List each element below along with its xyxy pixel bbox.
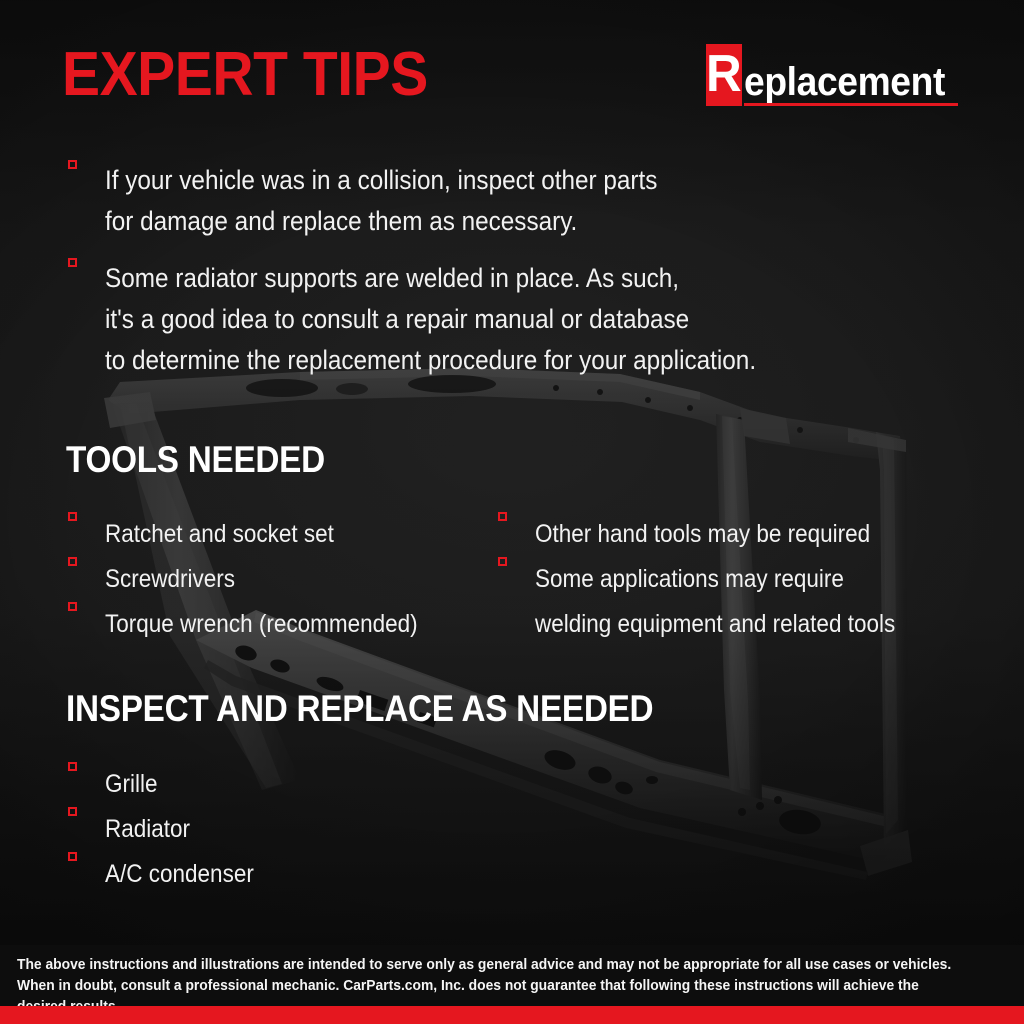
square-bullet-icon	[68, 160, 77, 169]
square-bullet-icon	[68, 557, 77, 566]
logo-r-mark: R	[706, 44, 742, 106]
inspect-item-1: Grille	[68, 762, 468, 807]
tool-item-right-2-text: Some applications may require welding eq…	[535, 557, 895, 647]
tool-item-left-3: Torque wrench (recommended)	[68, 602, 498, 647]
tool-item-right-2: Some applications may require welding eq…	[498, 557, 978, 647]
inspect-replace-heading: INSPECT AND REPLACE AS NEEDED	[66, 690, 653, 727]
tool-item-right-1-text: Other hand tools may be required	[535, 512, 870, 557]
page-title: EXPERT TIPS	[62, 44, 428, 106]
tool-item-right-1: Other hand tools may be required	[498, 512, 958, 557]
square-bullet-icon	[68, 512, 77, 521]
square-bullet-icon	[498, 557, 507, 566]
expert-tips-infographic: EXPERT TIPS R eplacement If your vehicle…	[0, 0, 1024, 1024]
tools-needed-heading: TOOLS NEEDED	[66, 441, 325, 478]
square-bullet-icon	[68, 258, 77, 267]
square-bullet-icon	[68, 852, 77, 861]
tool-item-left-1: Ratchet and socket set	[68, 512, 468, 557]
tip-item-2-text: Some radiator supports are welded in pla…	[105, 258, 756, 381]
logo-word-text: eplacement	[744, 62, 945, 102]
square-bullet-icon	[68, 807, 77, 816]
tool-item-left-1-text: Ratchet and socket set	[105, 512, 334, 557]
logo-wordmark: eplacement	[744, 62, 960, 106]
inspect-item-3: A/C condenser	[68, 852, 468, 897]
square-bullet-icon	[498, 512, 507, 521]
inspect-item-2-text: Radiator	[105, 807, 190, 852]
tip-item-1-text: If your vehicle was in a collision, insp…	[105, 160, 657, 242]
tip-item-2: Some radiator supports are welded in pla…	[68, 258, 948, 381]
inspect-item-3-text: A/C condenser	[105, 852, 254, 897]
logo-underline	[744, 103, 958, 106]
tool-item-left-2-text: Screwdrivers	[105, 557, 235, 602]
square-bullet-icon	[68, 602, 77, 611]
tool-item-left-2: Screwdrivers	[68, 557, 468, 602]
bottom-accent-bar	[0, 1006, 1024, 1024]
square-bullet-icon	[68, 762, 77, 771]
tip-item-1: If your vehicle was in a collision, insp…	[68, 160, 858, 242]
replacement-brand-logo: R eplacement	[706, 44, 960, 106]
logo-mark-letter: R	[706, 48, 742, 100]
inspect-item-1-text: Grille	[105, 762, 158, 807]
inspect-item-2: Radiator	[68, 807, 468, 852]
tool-item-left-3-text: Torque wrench (recommended)	[105, 602, 418, 647]
